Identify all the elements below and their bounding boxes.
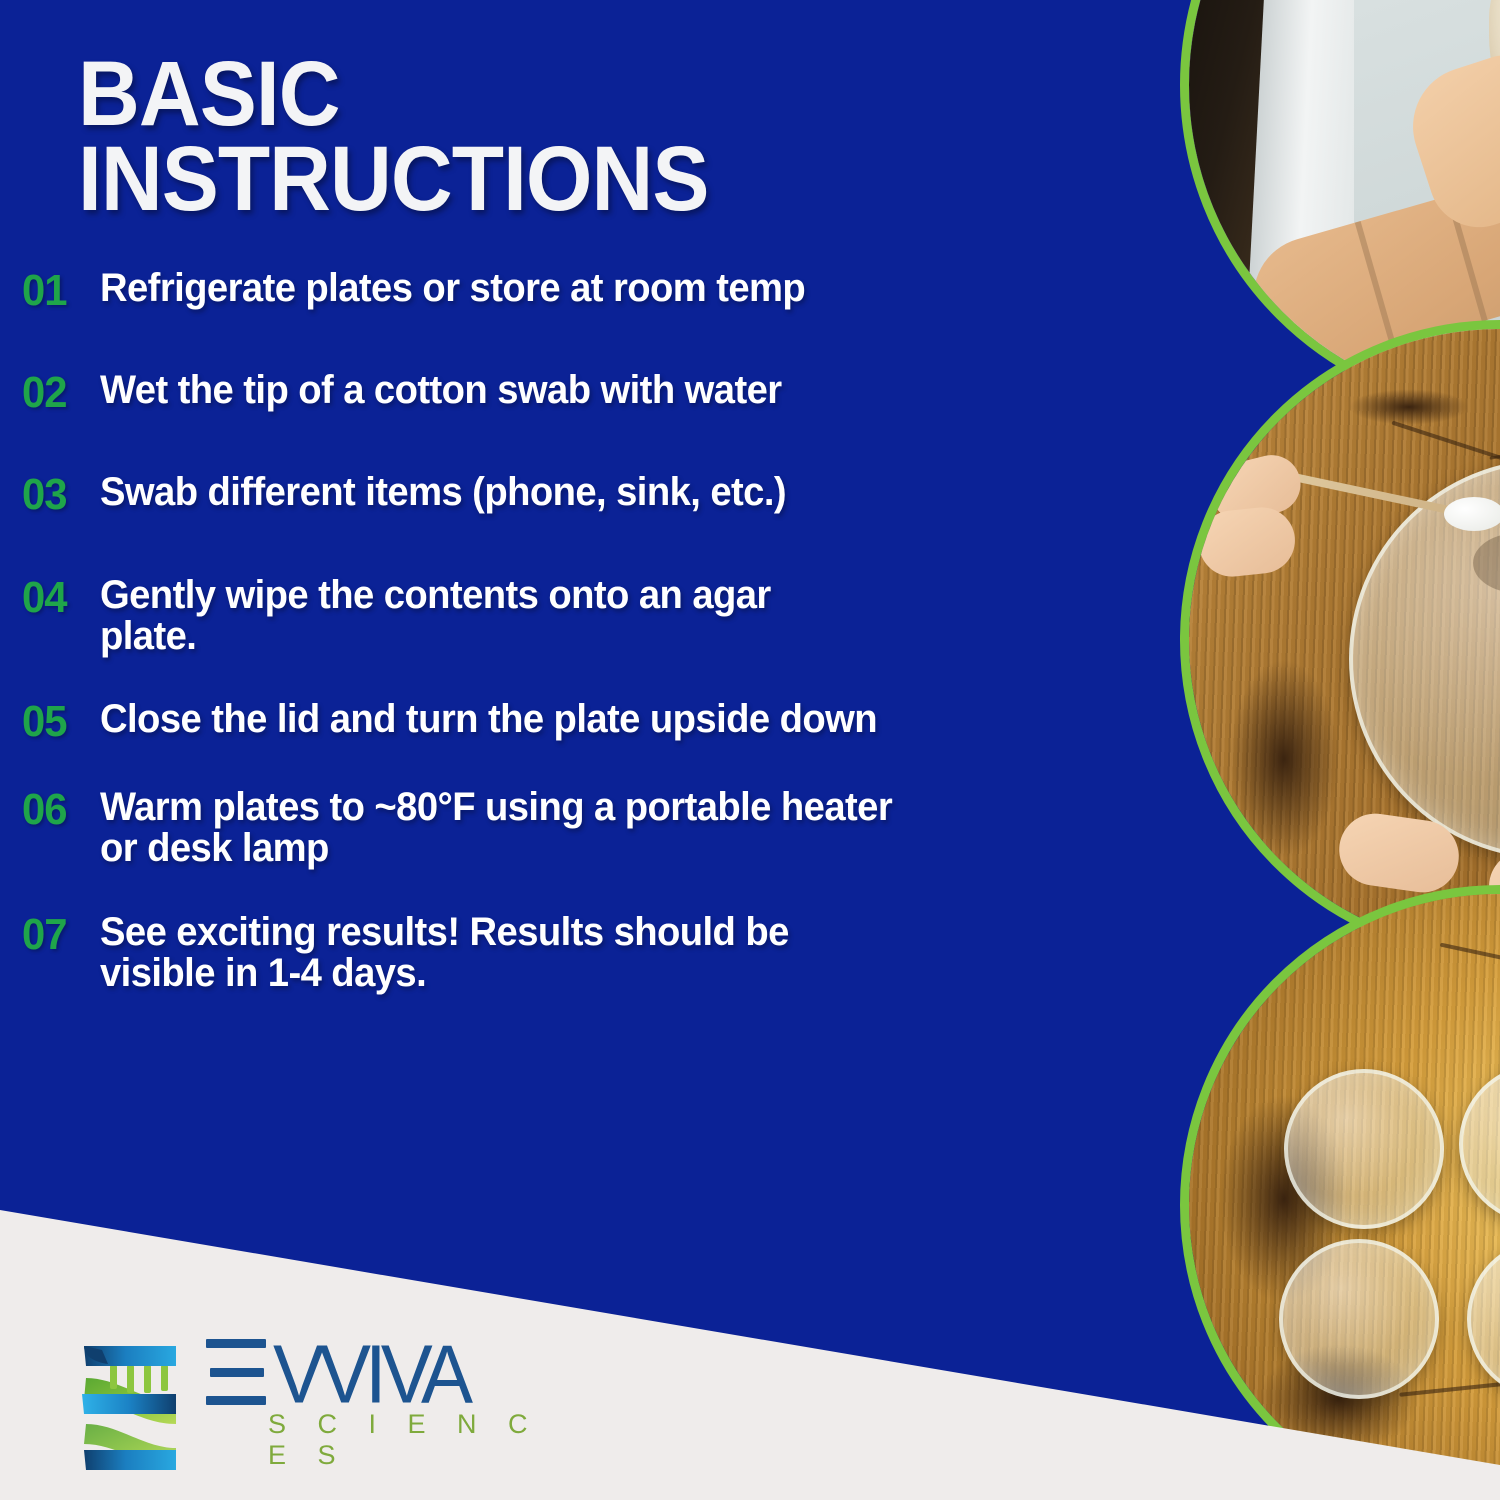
brand-logo: VVIVA S C I E N C E S xyxy=(72,1332,542,1472)
steps-list: 01 Refrigerate plates or store at room t… xyxy=(22,268,962,1024)
step-text: Gently wipe the contents onto an agar pl… xyxy=(100,575,874,657)
step-number: 07 xyxy=(22,912,96,958)
step-text: See exciting results! Results should be … xyxy=(100,912,893,994)
photo-column xyxy=(900,0,1500,1500)
step-number: 02 xyxy=(22,370,96,416)
logo-name: VVIVA xyxy=(273,1341,467,1407)
step-number: 05 xyxy=(22,699,96,745)
dna-helix-icon xyxy=(72,1332,190,1472)
page-title: BASIC INSTRUCTIONS xyxy=(78,52,878,221)
poster-canvas: BASIC INSTRUCTIONS 01 Refrigerate plates… xyxy=(0,0,1500,1500)
step-text: Swab different items (phone, sink, etc.) xyxy=(100,472,786,513)
step-text: Warm plates to ~80°F using a portable he… xyxy=(100,787,893,869)
list-item: 04 Gently wipe the contents onto an agar… xyxy=(22,575,962,657)
incubate-plates-photo xyxy=(1180,885,1500,1500)
list-item: 06 Warm plates to ~80°F using a portable… xyxy=(22,787,962,869)
swab-plate-photo xyxy=(1180,320,1500,960)
step-text: Refrigerate plates or store at room temp xyxy=(100,268,805,309)
step-text: Wet the tip of a cotton swab with water xyxy=(100,370,782,411)
step-text: Close the lid and turn the plate upside … xyxy=(100,699,877,740)
list-item: 02 Wet the tip of a cotton swab with wat… xyxy=(22,370,962,416)
list-item: 01 Refrigerate plates or store at room t… xyxy=(22,268,962,314)
step-number: 06 xyxy=(22,787,96,833)
title-line-2: INSTRUCTIONS xyxy=(78,137,878,222)
logo-wordmark: VVIVA S C I E N C E S xyxy=(206,1333,542,1471)
instructions-panel: BASIC INSTRUCTIONS 01 Refrigerate plates… xyxy=(0,0,980,1260)
step-number: 03 xyxy=(22,472,96,518)
step-number: 04 xyxy=(22,575,96,621)
logo-letter-e xyxy=(206,1339,266,1405)
list-item: 05 Close the lid and turn the plate upsi… xyxy=(22,699,962,745)
list-item: 03 Swab different items (phone, sink, et… xyxy=(22,472,962,518)
step-number: 01 xyxy=(22,268,96,314)
list-item: 07 See exciting results! Results should … xyxy=(22,912,962,994)
